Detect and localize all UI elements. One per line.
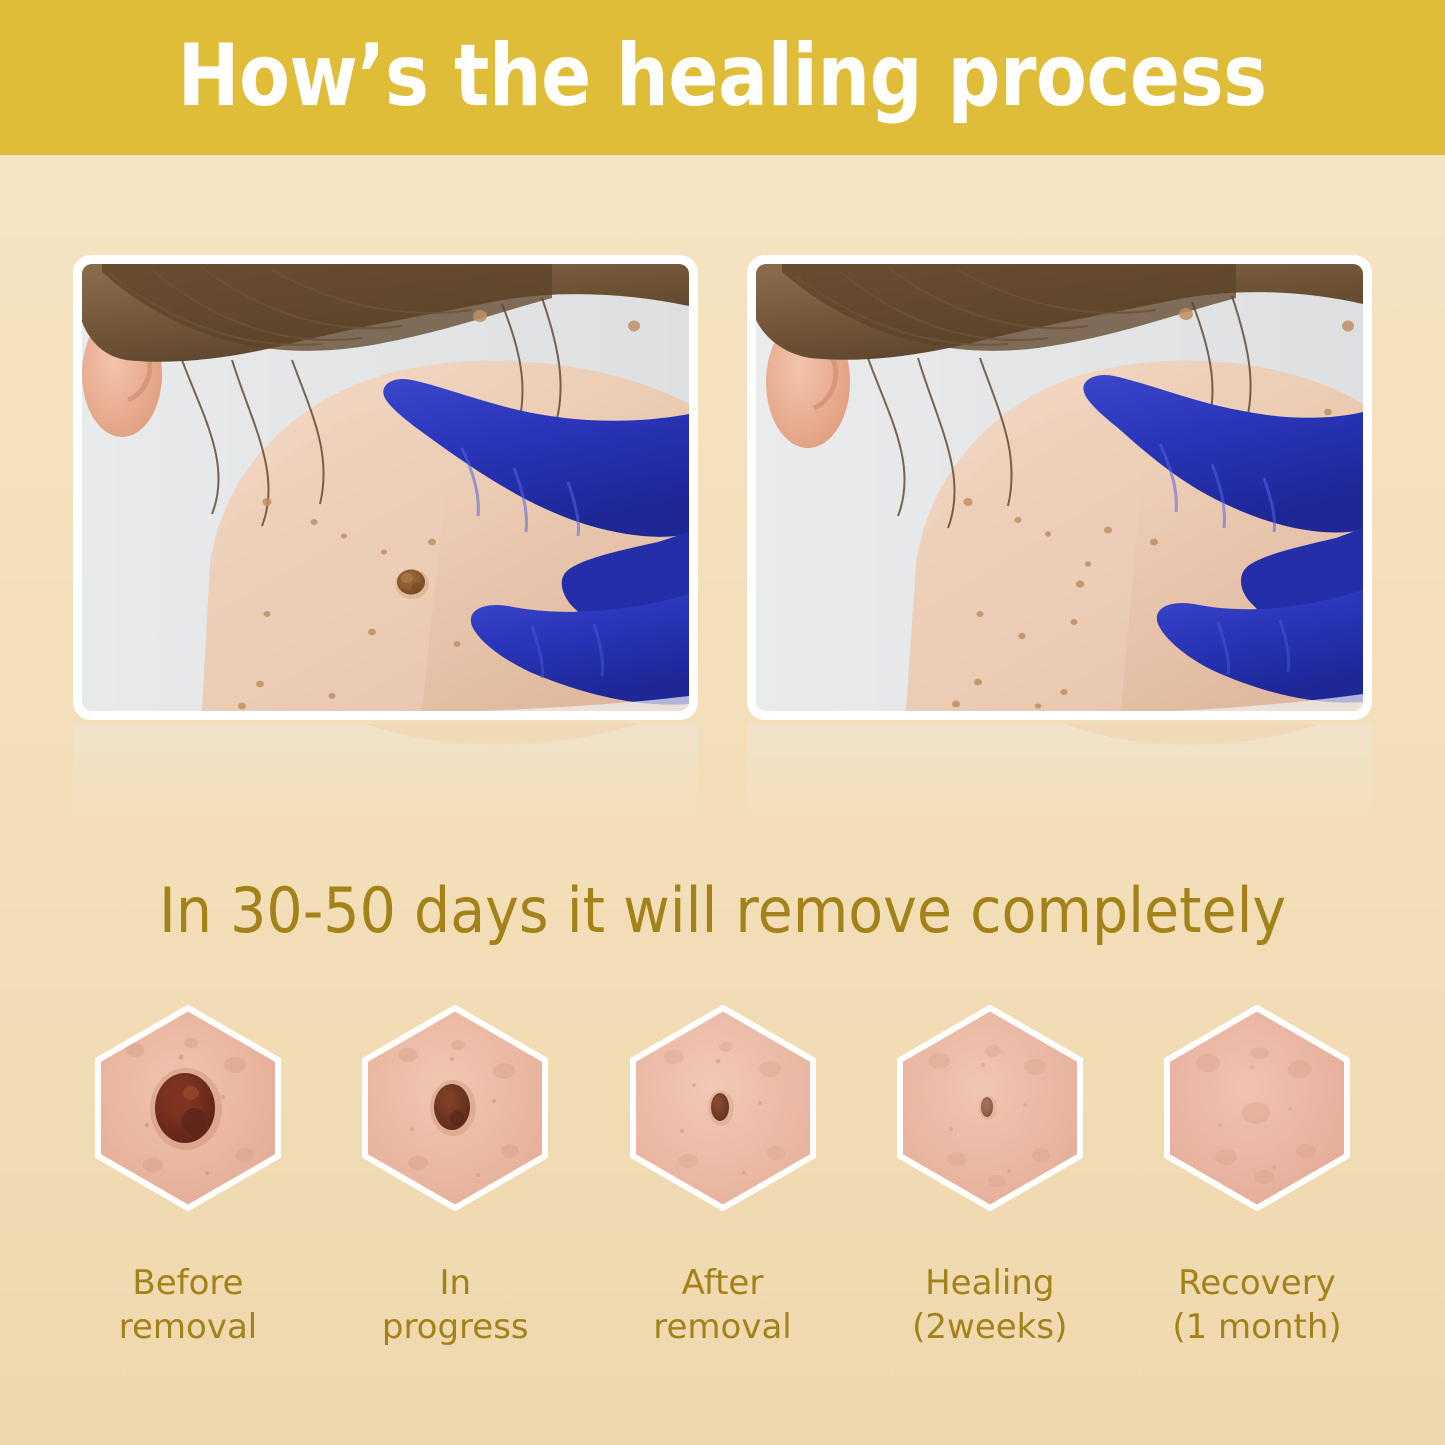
- header-banner: How’s the healing process: [0, 0, 1445, 155]
- hexagon-after-removal: [630, 1005, 816, 1211]
- healing-stages-row: Before removal: [0, 1005, 1445, 1425]
- after-photo-inner: [756, 264, 1363, 711]
- healing-duration-subtitle: In 30-50 days it will remove completely: [0, 875, 1445, 947]
- before-photo-inner: [82, 264, 689, 711]
- stage-label-after-removal: After removal: [653, 1261, 791, 1349]
- stage-recovery: Recovery (1 month): [1164, 1005, 1350, 1425]
- stage-healing: Healing (2weeks): [897, 1005, 1083, 1425]
- before-photo-image: [82, 264, 689, 711]
- hexagon-recovery: [1164, 1005, 1350, 1211]
- stage-label-in-progress: In progress: [382, 1261, 529, 1349]
- before-photo-reflection: [73, 724, 698, 844]
- healing-duration-text: In 30-50 days it will remove completely: [159, 875, 1286, 947]
- stage-before-removal: Before removal: [95, 1005, 281, 1425]
- after-photo-image: [756, 264, 1363, 711]
- hexagon-in-progress: [362, 1005, 548, 1211]
- hexagon-healing: [897, 1005, 1083, 1211]
- before-after-photo-row: [0, 255, 1445, 725]
- stage-in-progress: In progress: [362, 1005, 548, 1425]
- stage-label-healing: Healing (2weeks): [912, 1261, 1067, 1349]
- before-photo-frame: [73, 255, 698, 720]
- stage-after-removal: After removal: [630, 1005, 816, 1425]
- after-photo-frame: [747, 255, 1372, 720]
- page-title: How’s the healing process: [178, 28, 1267, 124]
- stage-label-recovery: Recovery (1 month): [1172, 1261, 1341, 1349]
- after-photo-reflection: [747, 724, 1372, 844]
- stage-label-before-removal: Before removal: [119, 1261, 257, 1349]
- hexagon-before-removal: [95, 1005, 281, 1211]
